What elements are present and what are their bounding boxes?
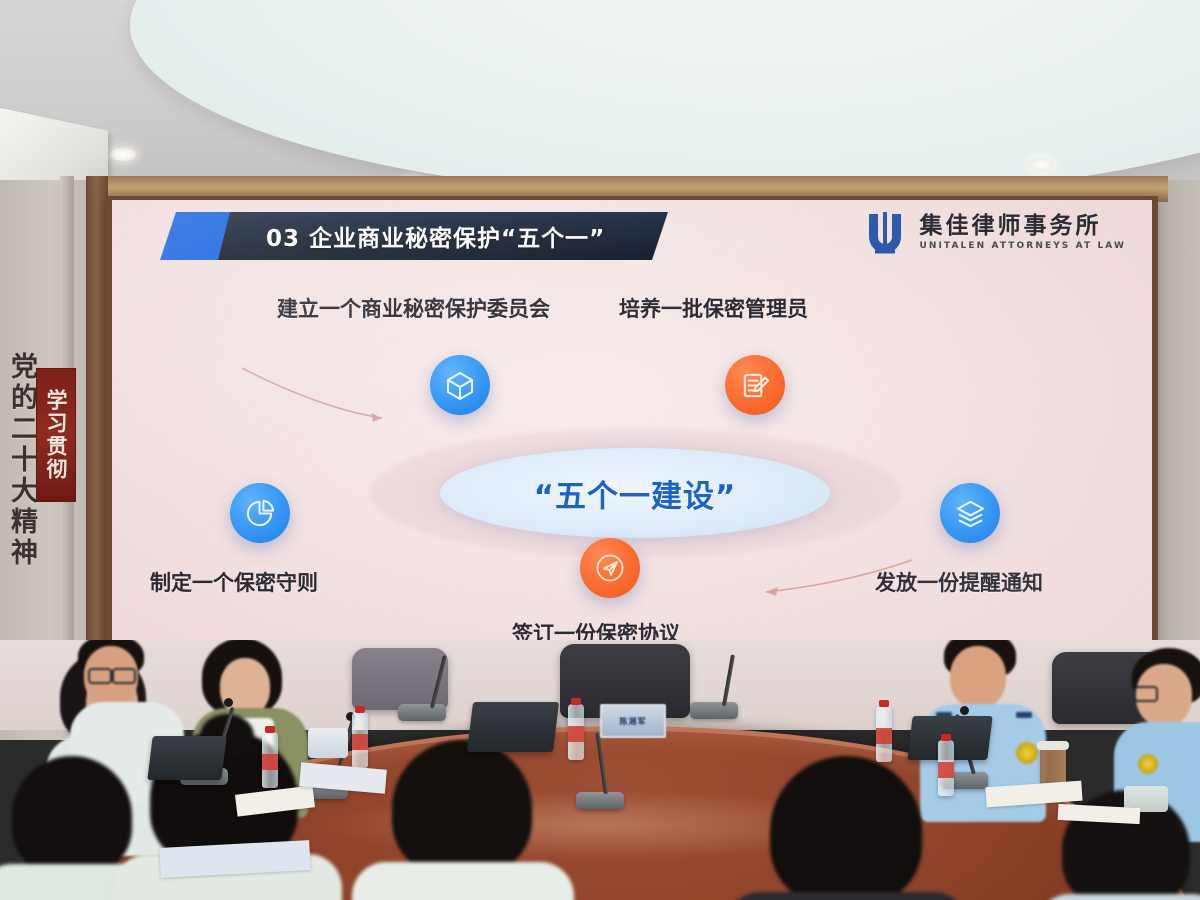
node-rules-bubble (230, 483, 290, 543)
node-agreement-bubble (580, 538, 640, 598)
unitalen-u-mark-icon (863, 210, 907, 256)
node-managers-bubble (725, 355, 785, 415)
node-rules[interactable]: 制定一个保密守则 (230, 483, 290, 543)
node-rules-label: 制定一个保密守则 (150, 567, 318, 597)
ceiling (0, 0, 1200, 200)
water-bottle[interactable] (568, 704, 584, 760)
laptop[interactable] (467, 702, 559, 752)
water-bottle[interactable] (876, 706, 892, 762)
microphone-head (960, 706, 969, 715)
node-committee-label: 建立一个商业秘密保护委员会 (277, 293, 550, 323)
wall-plaque-text: 学习贯彻 (41, 389, 71, 481)
firm-name-en: UNITALEN ATTORNEYS AT LAW (919, 242, 1126, 251)
microphone-head (224, 698, 233, 707)
meeting-room-foreground: 陈湘军 (0, 640, 1200, 900)
tissue-pack (308, 728, 348, 758)
pie-chart-icon (245, 498, 276, 529)
downlight (1028, 158, 1054, 171)
node-notice[interactable]: 发放一份提醒通知 (940, 483, 1000, 543)
laptop[interactable] (147, 736, 226, 780)
presentation-screen: 03 企业商业秘密保护“五个一” 集佳律师事务所 UNITALEN ATTORN… (112, 200, 1152, 692)
water-bottle[interactable] (352, 712, 368, 768)
node-notice-label: 发放一份提醒通知 (875, 567, 1043, 597)
center-label: “五个一建设” (440, 448, 830, 538)
node-notice-bubble (940, 483, 1000, 543)
node-committee[interactable]: 建立一个商业秘密保护委员会 (430, 355, 490, 415)
firm-name-cn: 集佳律师事务所 (919, 214, 1126, 238)
layers-icon (955, 498, 986, 529)
microphone-base[interactable] (398, 704, 446, 721)
page-title: 03 企业商业秘密保护“五个一” (266, 219, 605, 253)
firm-logo-text: 集佳律师事务所 UNITALEN ATTORNEYS AT LAW (919, 214, 1126, 252)
title-bar: 03 企业商业秘密保护“五个一” (218, 212, 668, 260)
water-bottle[interactable] (938, 740, 954, 796)
paper-plane-icon (593, 551, 627, 585)
node-agreement[interactable]: 签订一份保密协议 (580, 538, 640, 598)
cube-icon (444, 369, 476, 401)
node-managers-label: 培养一批保密管理员 (619, 293, 808, 323)
conference-room-photo: 党的二十大精神 学习贯彻 03 企业商业秘密保护“五个一” 集佳律师事务所 UN… (0, 0, 1200, 900)
wall-plaque: 学习贯彻 (36, 368, 76, 502)
microphone-base[interactable] (690, 702, 738, 719)
connector-arrow-left (232, 360, 392, 440)
document-edit-icon (740, 370, 771, 401)
node-committee-bubble (430, 355, 490, 415)
node-managers[interactable]: 培养一批保密管理员 (725, 355, 785, 415)
water-bottle[interactable] (262, 732, 278, 788)
microphone-base[interactable] (576, 792, 624, 809)
firm-logo: 集佳律师事务所 UNITALEN ATTORNEYS AT LAW (863, 210, 1126, 256)
downlight (110, 148, 136, 161)
name-plate: 陈湘军 (600, 704, 666, 738)
